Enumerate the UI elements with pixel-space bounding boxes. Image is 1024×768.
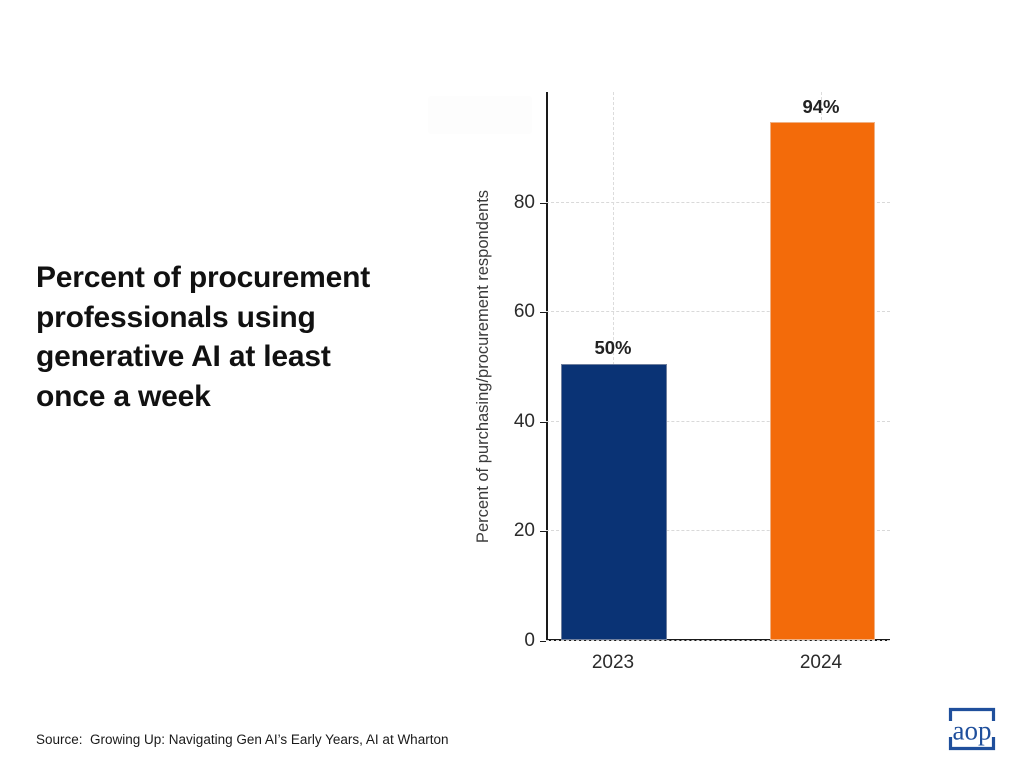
source-note: Source: Growing Up: Navigating Gen AI’s … bbox=[36, 732, 448, 747]
y-axis-title: Percent of purchasing/procurement respon… bbox=[471, 92, 497, 640]
plot-area: 0 20 40 60 80 50% 94% bbox=[546, 92, 890, 640]
tick-mark-y-60 bbox=[540, 312, 546, 313]
aop-logo: aop bbox=[944, 704, 1000, 754]
x-tick-label-2024: 2024 bbox=[800, 652, 842, 674]
page-title: Percent of procurement professionals usi… bbox=[36, 258, 386, 416]
tick-mark-y-20 bbox=[540, 531, 546, 532]
y-tick-label-60: 60 bbox=[514, 301, 535, 323]
y-tick-label-0: 0 bbox=[524, 630, 535, 652]
aop-logo-text: aop bbox=[953, 716, 992, 746]
x-tick-label-2023: 2023 bbox=[592, 652, 634, 674]
y-tick-label-80: 80 bbox=[514, 192, 535, 214]
y-axis-title-text: Percent of purchasing/procurement respon… bbox=[475, 189, 494, 542]
tick-mark-y-40 bbox=[540, 422, 546, 423]
tick-mark-y-0 bbox=[540, 641, 546, 642]
y-tick-label-40: 40 bbox=[514, 411, 535, 433]
y-tick-label-20: 20 bbox=[514, 520, 535, 542]
bar-label-2023: 50% bbox=[594, 337, 631, 359]
gridline-y-0: 0 bbox=[546, 640, 890, 641]
bar-2024[interactable] bbox=[770, 122, 875, 640]
tick-mark-y-80 bbox=[540, 203, 546, 204]
bar-label-2024: 94% bbox=[802, 96, 839, 118]
bar-2023[interactable] bbox=[561, 364, 667, 640]
aop-logo-mark: aop bbox=[944, 704, 1000, 754]
